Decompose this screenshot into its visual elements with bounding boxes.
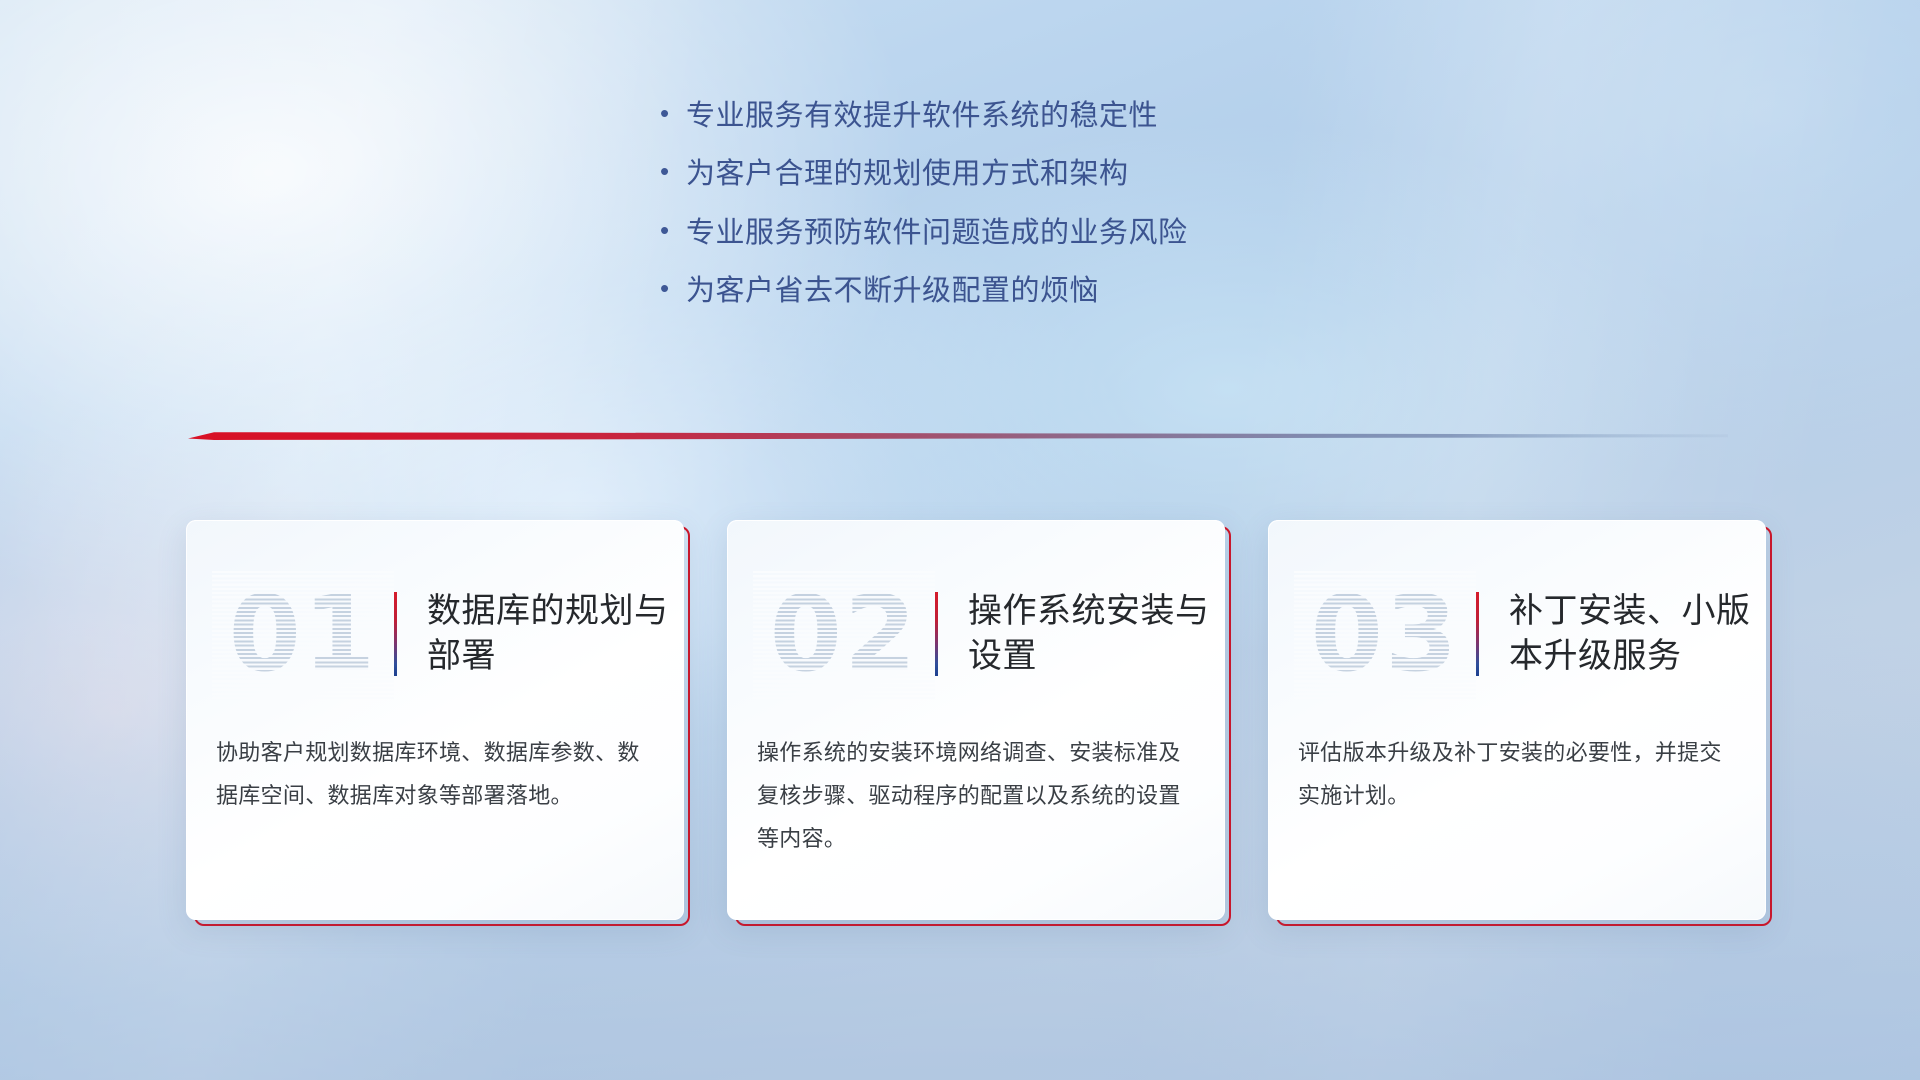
card-surface: 01 数据库的规划与部署 协助客户规划数据库环境、数据库参数、数据库空间、数据库…: [186, 520, 684, 920]
bullet-dot-icon: •: [660, 100, 686, 126]
service-card[interactable]: 01 数据库的规划与部署 协助客户规划数据库环境、数据库参数、数据库空间、数据库…: [186, 520, 684, 920]
card-number-watermark: 01: [212, 569, 394, 699]
card-description: 协助客户规划数据库环境、数据库参数、数据库空间、数据库对象等部署落地。: [216, 732, 654, 818]
card-title-separator: [394, 592, 397, 676]
card-title: 数据库的规划与部署: [427, 589, 677, 679]
card-header: 03 补丁安装、小版本升级服务: [1268, 564, 1766, 704]
bullet-dot-icon: •: [660, 158, 686, 184]
bullet-dot-icon: •: [660, 275, 686, 301]
section-divider: [188, 425, 1728, 447]
card-header: 01 数据库的规划与部署: [186, 564, 684, 704]
list-item: • 专业服务有效提升软件系统的稳定性: [660, 98, 1420, 134]
list-item-label: 专业服务预防软件问题造成的业务风险: [686, 215, 1188, 251]
card-description: 操作系统的安装环境网络调查、安装标准及复核步骤、驱动程序的配置以及系统的设置等内…: [757, 732, 1195, 861]
card-title: 操作系统安装与设置: [968, 589, 1218, 679]
card-header: 02 操作系统安装与设置: [727, 564, 1225, 704]
card-number-watermark: 03: [1294, 569, 1476, 699]
card-description: 评估版本升级及补丁安装的必要性，并提交实施计划。: [1298, 732, 1736, 818]
service-card[interactable]: 02 操作系统安装与设置 操作系统的安装环境网络调查、安装标准及复核步骤、驱动程…: [727, 520, 1225, 920]
list-item: • 为客户合理的规划使用方式和架构: [660, 156, 1420, 192]
card-surface: 02 操作系统安装与设置 操作系统的安装环境网络调查、安装标准及复核步骤、驱动程…: [727, 520, 1225, 920]
card-number-label: 03: [1311, 582, 1460, 686]
card-title-separator: [1476, 592, 1479, 676]
card-number-label: 02: [770, 582, 919, 686]
list-item-label: 为客户合理的规划使用方式和架构: [686, 156, 1129, 192]
list-item: • 为客户省去不断升级配置的烦恼: [660, 273, 1420, 309]
bullet-dot-icon: •: [660, 217, 686, 243]
service-cards: 01 数据库的规划与部署 协助客户规划数据库环境、数据库参数、数据库空间、数据库…: [186, 520, 1766, 940]
list-item-label: 为客户省去不断升级配置的烦恼: [686, 273, 1099, 309]
service-card[interactable]: 03 补丁安装、小版本升级服务 评估版本升级及补丁安装的必要性，并提交实施计划。: [1268, 520, 1766, 920]
card-title: 补丁安装、小版本升级服务: [1509, 589, 1759, 679]
card-title-separator: [935, 592, 938, 676]
card-number-watermark: 02: [753, 569, 935, 699]
list-item-label: 专业服务有效提升软件系统的稳定性: [686, 98, 1158, 134]
divider-shape: [188, 425, 1728, 447]
benefits-list: • 专业服务有效提升软件系统的稳定性 • 为客户合理的规划使用方式和架构 • 专…: [660, 98, 1420, 331]
list-item: • 专业服务预防软件问题造成的业务风险: [660, 215, 1420, 251]
card-surface: 03 补丁安装、小版本升级服务 评估版本升级及补丁安装的必要性，并提交实施计划。: [1268, 520, 1766, 920]
card-number-label: 01: [229, 582, 378, 686]
